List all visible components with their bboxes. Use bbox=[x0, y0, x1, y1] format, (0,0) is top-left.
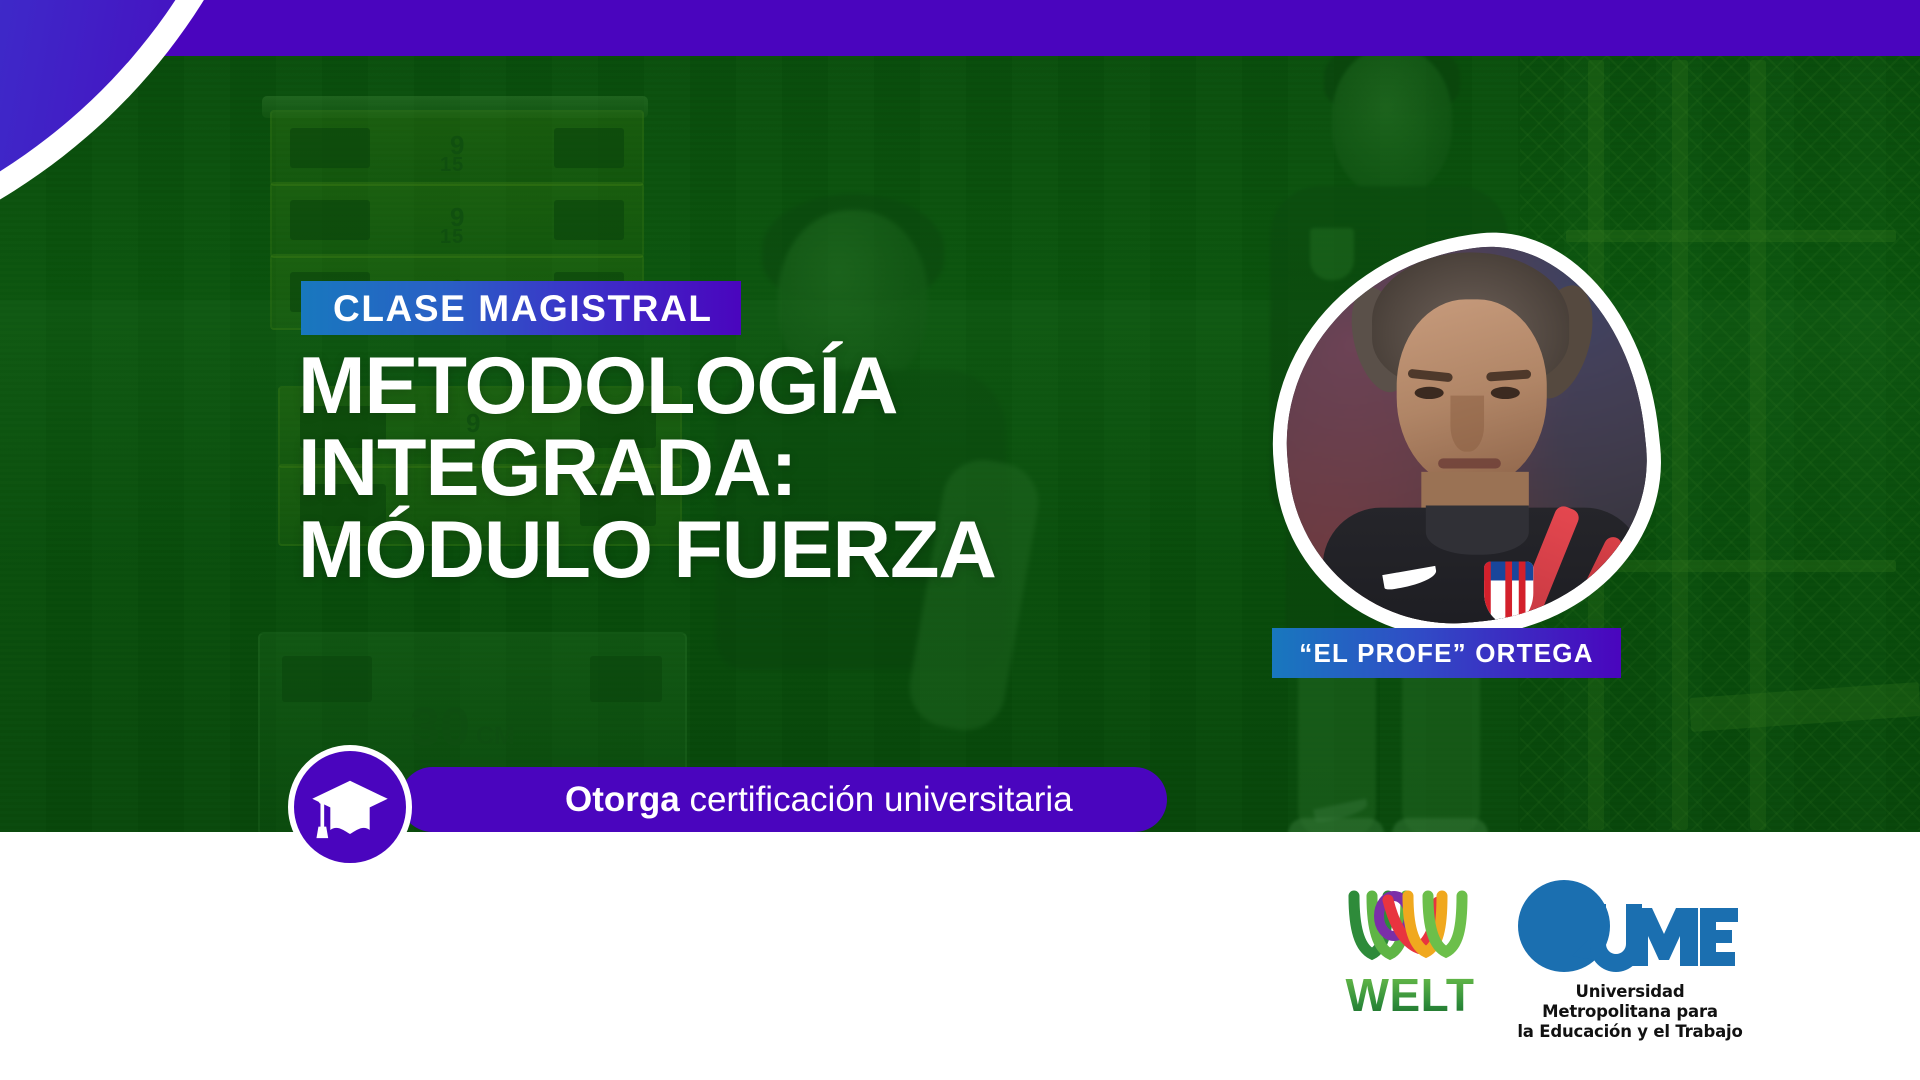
promo-banner: 9 15 9 15 9 9 30 CM bbox=[0, 0, 1920, 1080]
headline-line-2: INTEGRADA: bbox=[298, 430, 1308, 508]
kicker-badge: CLASE MAGISTRAL bbox=[301, 281, 741, 335]
umet-tagline-line-2: la Educación y el Trabajo bbox=[1510, 1022, 1750, 1042]
speaker-name-badge: “EL PROFE” ORTEGA bbox=[1272, 628, 1621, 678]
avatar: Trade Plus500 bbox=[1268, 232, 1663, 639]
umet-logo: Universidad Metropolitana para la Educac… bbox=[1510, 878, 1750, 1038]
certification-bold: Otorga bbox=[565, 780, 680, 819]
speaker-name-label: “EL PROFE” ORTEGA bbox=[1299, 638, 1593, 669]
umet-circle-icon bbox=[1510, 878, 1738, 980]
kicker-label: CLASE MAGISTRAL bbox=[333, 290, 713, 327]
page-title: METODOLOGÍA INTEGRADA: MÓDULO FUERZA bbox=[298, 348, 1308, 589]
welt-ribbon-icon bbox=[1342, 890, 1478, 968]
certification-text: Otorga certificación universitaria bbox=[565, 782, 1073, 817]
graduation-cap-icon bbox=[309, 766, 391, 848]
speaker-portrait: Trade Plus500 bbox=[1272, 236, 1658, 636]
portrait-image-clip: Trade Plus500 bbox=[1268, 232, 1663, 639]
headline-line-3: MÓDULO FUERZA bbox=[298, 512, 1308, 590]
headline-line-1: METODOLOGÍA bbox=[298, 348, 1308, 426]
graduation-cap-badge bbox=[288, 745, 412, 869]
welt-wordmark: WELT bbox=[1325, 972, 1495, 1018]
umet-tagline-line-1: Universidad Metropolitana para bbox=[1510, 982, 1750, 1022]
corner-decoration-blob bbox=[0, 0, 290, 290]
certification-rest: certificación universitaria bbox=[680, 780, 1073, 819]
club-crest-icon bbox=[1484, 561, 1533, 624]
certification-pill: Otorga certificación universitaria bbox=[400, 767, 1167, 832]
umet-tagline: Universidad Metropolitana para la Educac… bbox=[1510, 982, 1750, 1041]
welt-logo: WELT bbox=[1325, 890, 1495, 1035]
